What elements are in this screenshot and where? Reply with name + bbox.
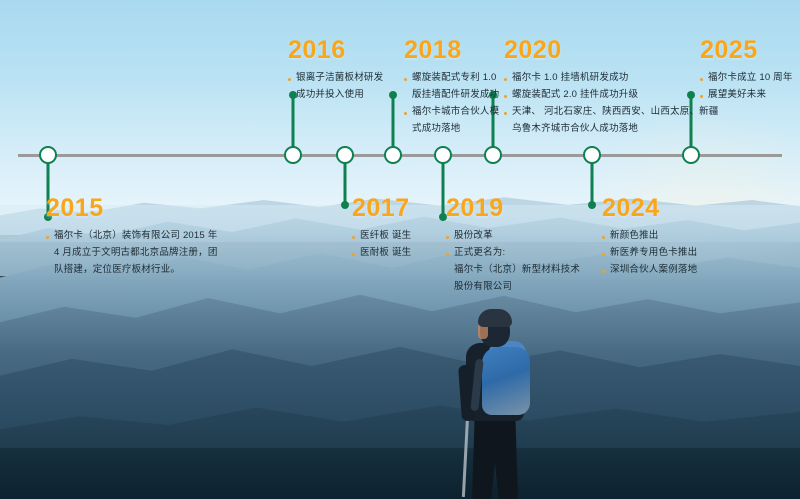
bullet-dot-icon	[700, 95, 703, 98]
timeline-stem-endpoint-2024	[588, 201, 596, 209]
bullet-text: 股份有限公司	[454, 280, 512, 294]
bullet-text: 队搭建，定位医疗板材行业。	[54, 263, 180, 277]
bullet-text: 4 月成立于文明古都北京品牌注册，团	[54, 246, 218, 260]
bullet-dot-icon	[446, 236, 449, 239]
timeline-stem-endpoint-2018	[389, 91, 397, 99]
timeline-node-2016[interactable]	[284, 146, 302, 164]
milestone-2020: 2020福尔卡 1.0 挂墙机研发成功螺旋装配式 2.0 挂件成功升级天津、 河…	[504, 38, 719, 139]
bullet-text: 医纤板 诞生	[360, 229, 411, 243]
timeline-infographic: 2015福尔卡（北京）装饰有限公司 2015 年4 月成立于文明古都北京品牌注册…	[0, 0, 800, 499]
bullet-line: 版挂墙配件研发成功	[404, 88, 499, 102]
bullet-dot-icon	[46, 236, 49, 239]
milestone-bullets-2024: 新颜色推出新医养专用色卡推出深圳合伙人案例落地	[602, 229, 697, 277]
bullet-line: 乌鲁木齐城市合伙人成功落地	[504, 122, 719, 136]
bullet-text: 福尔卡 1.0 挂墙机研发成功	[512, 71, 629, 85]
timeline-stem-endpoint-2017	[341, 201, 349, 209]
bullet-text: 版挂墙配件研发成功	[412, 88, 499, 102]
bullet-text: 式成功落地	[412, 122, 461, 136]
bullet-dot-icon	[352, 236, 355, 239]
bullet-line: 4 月成立于文明古都北京品牌注册，团	[46, 246, 218, 260]
bullet-dot-icon	[446, 253, 449, 256]
milestone-year-2017: 2017	[352, 196, 411, 221]
bullet-text: 银离子洁菌板材研发	[296, 71, 383, 85]
timeline-node-2017[interactable]	[336, 146, 354, 164]
hiker-legs	[472, 413, 518, 499]
bullet-line: 医纤板 诞生	[352, 229, 411, 243]
milestone-bullets-2018: 螺旋装配式专利 1.0版挂墙配件研发成功福尔卡城市合伙人模式成功落地	[404, 71, 499, 136]
milestone-2024: 2024新颜色推出新医养专用色卡推出深圳合伙人案例落地	[602, 196, 697, 280]
milestone-2025: 2025福尔卡成立 10 周年展望美好未来	[700, 38, 793, 105]
bullet-text: 深圳合伙人案例落地	[610, 263, 697, 277]
milestone-2015: 2015福尔卡（北京）装饰有限公司 2015 年4 月成立于文明古都北京品牌注册…	[46, 196, 218, 280]
bullet-line: 医耐板 诞生	[352, 246, 411, 260]
bullet-line: 螺旋装配式 2.0 挂件成功升级	[504, 88, 719, 102]
bullet-line: 福尔卡（北京）装饰有限公司 2015 年	[46, 229, 218, 243]
timeline-node-2025[interactable]	[682, 146, 700, 164]
bullet-dot-icon	[504, 112, 507, 115]
bullet-text: 新医养专用色卡推出	[610, 246, 697, 260]
bullet-dot-icon	[602, 270, 605, 273]
bullet-dot-icon	[504, 95, 507, 98]
bullet-line: 式成功落地	[404, 122, 499, 136]
milestone-bullets-2025: 福尔卡成立 10 周年展望美好未来	[700, 71, 793, 102]
milestone-year-2018: 2018	[404, 38, 499, 63]
bullet-line: 正式更名为:	[446, 246, 580, 260]
bullet-dot-icon	[288, 78, 291, 81]
timeline-node-2015[interactable]	[39, 146, 57, 164]
bullet-line: 深圳合伙人案例落地	[602, 263, 697, 277]
timeline-node-2019[interactable]	[434, 146, 452, 164]
bullet-text: 正式更名为:	[454, 246, 505, 260]
bullet-line: 福尔卡 1.0 挂墙机研发成功	[504, 71, 719, 85]
bullet-line: 福尔卡城市合伙人模	[404, 105, 499, 119]
bullet-dot-icon	[404, 78, 407, 81]
milestone-year-2016: 2016	[288, 38, 383, 63]
bullet-text: 螺旋装配式 2.0 挂件成功升级	[512, 88, 638, 102]
bullet-line: 螺旋装配式专利 1.0	[404, 71, 499, 85]
bullet-text: 螺旋装配式专利 1.0	[412, 71, 497, 85]
bullet-line: 展望美好未来	[700, 88, 793, 102]
milestone-year-2024: 2024	[602, 196, 697, 221]
milestone-bullets-2017: 医纤板 诞生医耐板 诞生	[352, 229, 411, 260]
bullet-text: 新颜色推出	[610, 229, 659, 243]
bullet-line: 福尔卡成立 10 周年	[700, 71, 793, 85]
milestone-year-2020: 2020	[504, 38, 719, 63]
bullet-dot-icon	[404, 112, 407, 115]
hiker-cap	[478, 309, 512, 327]
bullet-text: 股份改革	[454, 229, 493, 243]
bullet-dot-icon	[602, 253, 605, 256]
bullet-text: 福尔卡（北京）新型材料技术	[454, 263, 580, 277]
bullet-line: 银离子洁菌板材研发	[288, 71, 383, 85]
bullet-text: 福尔卡（北京）装饰有限公司 2015 年	[54, 229, 217, 243]
bullet-text: 医耐板 诞生	[360, 246, 411, 260]
milestone-year-2025: 2025	[700, 38, 793, 63]
timeline-node-2020[interactable]	[484, 146, 502, 164]
bullet-dot-icon	[352, 253, 355, 256]
milestone-2019: 2019股份改革正式更名为:福尔卡（北京）新型材料技术股份有限公司	[446, 196, 580, 297]
milestone-2018: 2018螺旋装配式专利 1.0版挂墙配件研发成功福尔卡城市合伙人模式成功落地	[404, 38, 499, 139]
timeline-node-2018[interactable]	[384, 146, 402, 164]
bullet-line: 成功并投入使用	[288, 88, 383, 102]
bullet-dot-icon	[602, 236, 605, 239]
milestone-bullets-2019: 股份改革正式更名为:福尔卡（北京）新型材料技术股份有限公司	[446, 229, 580, 294]
milestone-bullets-2016: 银离子洁菌板材研发成功并投入使用	[288, 71, 383, 102]
timeline-stem-2019	[442, 155, 445, 217]
bullet-text: 展望美好未来	[708, 88, 766, 102]
bullet-line: 队搭建，定位医疗板材行业。	[46, 263, 218, 277]
bullet-line: 天津、 河北石家庄、陕西西安、山西太原、新疆	[504, 105, 719, 119]
bullet-text: 福尔卡城市合伙人模	[412, 105, 499, 119]
mountain-ridge-foreground	[0, 448, 800, 499]
milestone-bullets-2015: 福尔卡（北京）装饰有限公司 2015 年4 月成立于文明古都北京品牌注册，团队搭…	[46, 229, 218, 277]
milestone-bullets-2020: 福尔卡 1.0 挂墙机研发成功螺旋装配式 2.0 挂件成功升级天津、 河北石家庄…	[504, 71, 719, 136]
bullet-line: 股份有限公司	[446, 280, 580, 294]
milestone-2017: 2017医纤板 诞生医耐板 诞生	[352, 196, 411, 263]
trekking-pole	[462, 415, 469, 497]
bullet-line: 股份改革	[446, 229, 580, 243]
bullet-line: 福尔卡（北京）新型材料技术	[446, 263, 580, 277]
bullet-line: 新医养专用色卡推出	[602, 246, 697, 260]
timeline-node-2024[interactable]	[583, 146, 601, 164]
bullet-dot-icon	[504, 78, 507, 81]
bullet-text: 成功并投入使用	[296, 88, 364, 102]
milestone-year-2019: 2019	[446, 196, 580, 221]
bullet-text: 乌鲁木齐城市合伙人成功落地	[512, 122, 638, 136]
hiker-figure	[440, 305, 560, 499]
bullet-text: 福尔卡成立 10 周年	[708, 71, 793, 85]
bullet-text: 天津、 河北石家庄、陕西西安、山西太原、新疆	[512, 105, 719, 119]
bullet-line: 新颜色推出	[602, 229, 697, 243]
milestone-year-2015: 2015	[46, 196, 218, 221]
bullet-dot-icon	[700, 78, 703, 81]
hiker-backpack	[482, 347, 530, 415]
milestone-2016: 2016银离子洁菌板材研发成功并投入使用	[288, 38, 383, 105]
